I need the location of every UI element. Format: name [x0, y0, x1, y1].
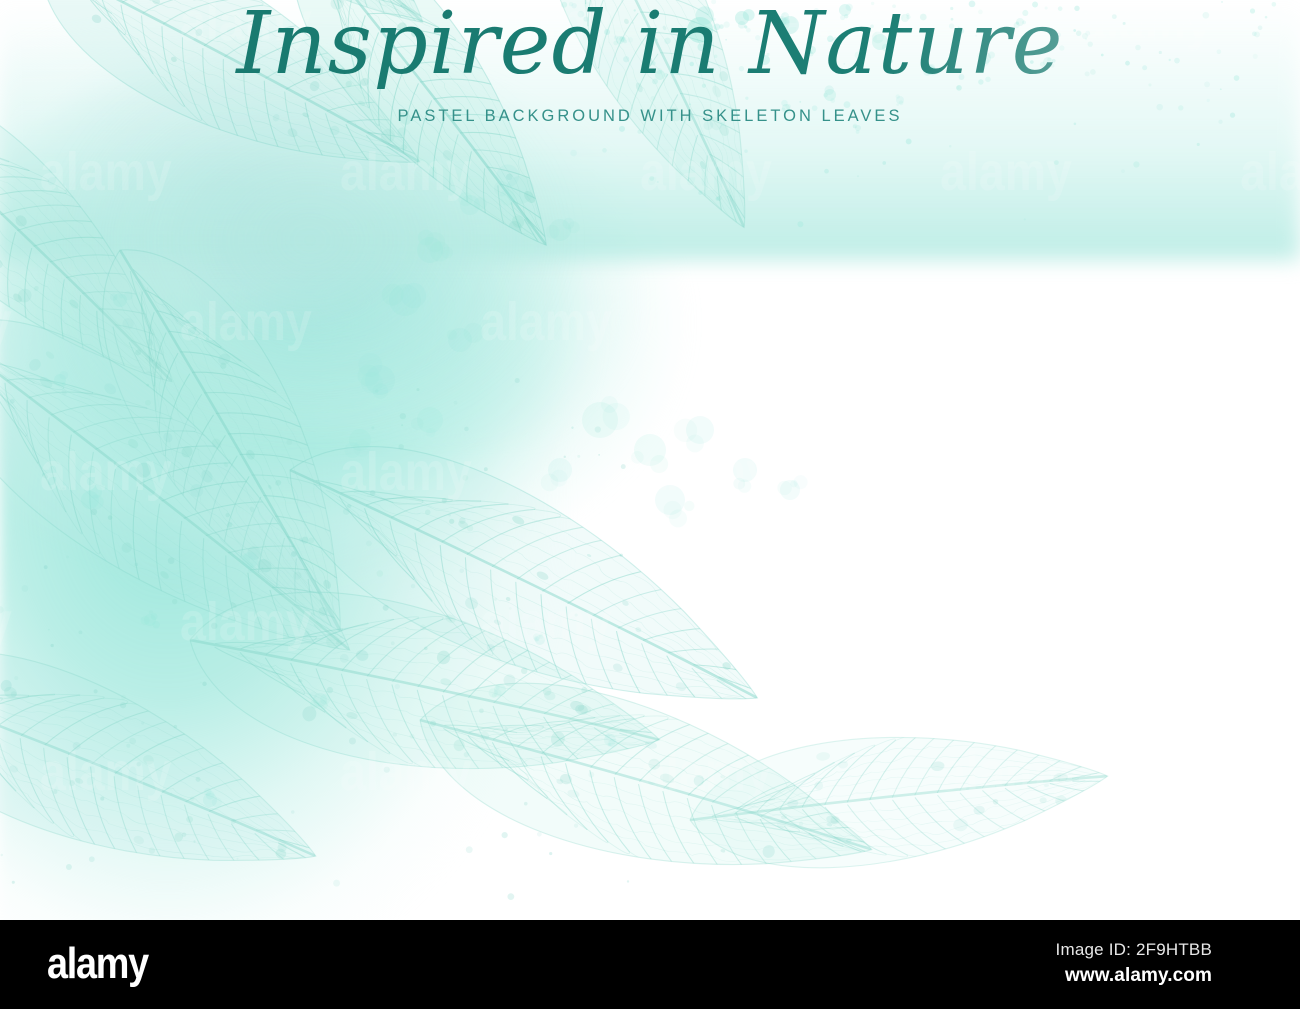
paint-speckle: [628, 37, 633, 42]
paint-speckle: [467, 525, 473, 531]
paint-speckle: [888, 29, 891, 32]
paint-speckle: [675, 41, 680, 46]
paint-speckle: [502, 832, 508, 838]
paint-splatter: [310, 692, 331, 710]
paint-speckle: [716, 197, 720, 201]
paint-speckle: [1074, 122, 1077, 125]
paint-speckle: [1133, 161, 1139, 167]
paint-speckle: [714, 54, 718, 58]
paint-speckle: [951, 18, 954, 21]
paint-speckle: [1076, 31, 1081, 36]
paint-speckle: [725, 39, 727, 41]
paint-speckle: [844, 101, 851, 108]
paint-speckle: [302, 537, 309, 544]
paint-speckle: [375, 389, 378, 392]
paint-speckle: [620, 554, 623, 557]
paint-speckle: [1221, 1, 1223, 3]
paint-speckle: [956, 85, 962, 91]
paint-splatter: [489, 684, 506, 698]
paint-speckle: [168, 557, 175, 564]
paint-speckle: [291, 551, 297, 557]
paint-speckle: [745, 97, 748, 100]
paint-speckle: [135, 563, 139, 567]
paint-splatter: [494, 164, 534, 205]
paint-speckle: [91, 509, 98, 516]
paint-speckle: [430, 720, 436, 726]
paint-speckle: [799, 101, 801, 103]
paint-speckle: [577, 11, 584, 18]
paint-speckle: [649, 176, 654, 181]
paint-speckle: [929, 35, 933, 39]
paint-speckle: [459, 568, 464, 573]
paint-speckle: [69, 780, 75, 786]
paint-splatter: [417, 230, 453, 263]
paint-speckle: [583, 16, 588, 21]
paint-speckle: [193, 840, 195, 842]
paint-speckle: [574, 824, 578, 828]
paint-speckle: [211, 623, 217, 629]
paint-speckle: [190, 796, 194, 800]
paint-speckle: [1030, 60, 1034, 64]
paint-splatter: [957, 26, 964, 35]
paint-splatter: [459, 192, 487, 215]
paint-speckle: [136, 762, 140, 766]
paint-speckle: [62, 487, 64, 489]
paint-speckle: [634, 9, 636, 11]
image-id-label: Image ID: 2F9HTBB: [1056, 938, 1212, 963]
paint-splatter: [853, 124, 861, 134]
paint-speckle: [1253, 54, 1258, 59]
paint-speckle: [1217, 49, 1222, 54]
paint-speckle: [1135, 45, 1141, 51]
paint-speckle: [985, 77, 990, 82]
paint-speckle: [575, 613, 578, 616]
paint-speckle: [171, 793, 173, 795]
paint-speckle: [466, 846, 473, 853]
paint-speckle: [343, 508, 350, 515]
paint-speckle: [442, 498, 447, 503]
paint-speckle: [812, 105, 818, 111]
paint-speckle: [892, 4, 896, 8]
paint-speckle: [420, 625, 426, 631]
paint-speckle: [1148, 83, 1151, 86]
paint-splatter: [631, 434, 668, 473]
paint-speckle: [1250, 8, 1255, 13]
paint-splatter: [54, 371, 68, 386]
paint-speckle: [94, 689, 98, 693]
paint-speckle: [371, 426, 374, 429]
paint-speckle: [623, 56, 629, 62]
paint-speckle: [11, 691, 17, 697]
paint-speckle: [384, 767, 390, 773]
paint-speckle: [824, 169, 829, 174]
paint-splatter: [141, 610, 160, 628]
paint-speckle: [1174, 58, 1180, 64]
paint-speckle: [1156, 104, 1162, 110]
paint-speckle: [182, 832, 187, 837]
paint-speckle: [721, 122, 725, 126]
paint-speckle: [739, 66, 744, 71]
paint-speckle: [401, 424, 403, 426]
pastel-leaf-artwork: alamyalamyalamyalamyalamyalamyalamyalamy…: [0, 0, 1300, 920]
paint-speckle: [744, 25, 747, 28]
paint-speckle: [366, 541, 372, 547]
paint-speckle: [509, 607, 512, 610]
paint-speckle: [291, 810, 295, 814]
paint-splatter: [733, 458, 757, 493]
paint-speckle: [44, 565, 48, 569]
paint-speckle: [1052, 59, 1056, 63]
paint-speckle: [411, 584, 415, 588]
paint-speckle: [679, 44, 685, 50]
paint-speckle: [1230, 112, 1235, 117]
paint-speckle: [507, 893, 514, 900]
paint-speckle: [108, 515, 112, 519]
paint-speckle: [657, 181, 659, 183]
paint-speckle: [564, 456, 566, 458]
paint-speckle: [651, 96, 656, 101]
paint-speckle: [1058, 6, 1063, 11]
paint-speckle: [949, 23, 954, 28]
paint-speckle: [746, 28, 751, 33]
paint-splatter: [110, 291, 133, 307]
paint-speckle: [723, 21, 729, 27]
paint-speckle: [53, 790, 57, 794]
paint-speckle: [623, 39, 627, 43]
paint-speckle: [702, 84, 706, 88]
paint-speckle: [719, 24, 724, 29]
paint-speckle: [484, 467, 488, 471]
paint-splatter: [582, 396, 630, 438]
paint-speckle: [89, 856, 95, 862]
paint-speckle: [237, 858, 239, 860]
paint-speckle: [1234, 75, 1240, 81]
paint-speckle: [1207, 99, 1210, 102]
paint-speckle: [100, 797, 104, 801]
paint-splatter: [382, 283, 427, 316]
paint-speckle: [327, 687, 333, 693]
paint-splatter: [806, 46, 816, 56]
paint-speckle: [1032, 2, 1038, 8]
paint-speckle: [308, 537, 314, 543]
paint-speckle: [174, 725, 178, 729]
paint-splatter: [345, 429, 371, 458]
paint-speckle: [570, 150, 577, 157]
paint-speckle: [262, 567, 264, 569]
paint-speckle: [1218, 120, 1222, 124]
paint-speckle: [448, 514, 451, 517]
alamy-watermark-bar: alamy Image ID: 2F9HTBB www.alamy.com: [0, 920, 1300, 1009]
paint-splatter: [923, 64, 937, 76]
paint-speckle: [711, 0, 716, 4]
paint-speckle: [1022, 10, 1028, 16]
paint-speckle: [978, 10, 983, 15]
paint-splatter: [901, 13, 911, 22]
paint-speckle: [1272, 2, 1277, 7]
paint-speckle: [410, 734, 415, 739]
paint-speckle: [870, 24, 873, 27]
paint-speckle: [664, 38, 670, 44]
paint-splatter: [896, 94, 904, 106]
paint-speckle: [598, 454, 600, 456]
paint-speckle: [906, 138, 912, 144]
paint-speckle: [1204, 82, 1210, 88]
paint-speckle: [424, 647, 428, 651]
paint-speckle: [1, 854, 3, 856]
paint-speckle: [712, 18, 715, 21]
paint-speckle: [370, 490, 376, 496]
paint-splatter: [735, 9, 755, 29]
paint-speckle: [1073, 29, 1076, 32]
paint-speckle: [959, 74, 965, 80]
paint-speckle: [1125, 61, 1130, 66]
paint-speckle: [0, 606, 4, 613]
paint-speckle: [1074, 6, 1079, 11]
paint-speckle: [1220, 88, 1222, 90]
paint-speckle: [22, 585, 29, 592]
paint-speckle: [1265, 16, 1268, 19]
paint-speckle: [377, 570, 384, 577]
paint-speckle: [521, 668, 527, 674]
paint-speckle: [66, 556, 69, 559]
paint-speckle: [126, 744, 130, 748]
paint-speckle: [632, 22, 634, 24]
paint-splatter: [977, 52, 995, 67]
paint-speckle: [698, 191, 702, 195]
paint-splatter-layer: [0, 0, 1300, 920]
paint-speckle: [1252, 31, 1257, 36]
paint-speckle: [398, 444, 404, 450]
paint-splatter: [604, 733, 617, 747]
paint-speckle: [1142, 65, 1147, 70]
paint-speckle: [1197, 143, 1200, 146]
paint-speckle: [50, 644, 53, 647]
paint-splatter: [203, 788, 222, 807]
paint-splatter: [777, 475, 807, 500]
paint-speckle: [10, 399, 15, 404]
paint-speckle: [464, 752, 469, 757]
paint-speckle: [66, 864, 72, 870]
paint-splatter: [447, 323, 484, 352]
paint-speckle: [146, 384, 149, 387]
paint-speckle: [920, 14, 927, 21]
paint-speckle: [1121, 169, 1125, 173]
paint-speckle: [656, 38, 658, 40]
paint-speckle: [855, 52, 862, 59]
paint-speckle: [561, 2, 567, 8]
paint-speckle: [621, 464, 626, 469]
paint-speckle: [425, 509, 431, 515]
paint-speckle: [978, 79, 983, 84]
paint-splatter: [533, 633, 545, 645]
paint-splatter: [1014, 18, 1026, 28]
paint-speckle: [264, 399, 266, 401]
paint-speckle: [1159, 51, 1162, 54]
paint-speckle: [619, 126, 625, 132]
artwork-canvas: alamyalamyalamyalamyalamyalamyalamyalamy…: [0, 0, 1300, 1009]
paint-speckle: [588, 772, 594, 778]
paint-speckle: [149, 847, 155, 853]
paint-splatter: [674, 416, 714, 452]
paint-speckle: [950, 7, 953, 10]
paint-speckle: [333, 880, 340, 887]
paint-splatter: [546, 218, 580, 241]
paint-splatter: [411, 407, 443, 437]
paint-speckle: [200, 682, 202, 684]
paint-speckle: [141, 722, 144, 725]
paint-speckle: [1054, 160, 1059, 165]
paint-speckle: [569, 2, 574, 7]
paint-splatter: [239, 552, 258, 573]
paint-speckle: [871, 2, 874, 5]
paint-speckle: [504, 728, 508, 732]
paint-speckle: [755, 35, 760, 40]
paint-speckle: [142, 479, 145, 482]
paint-speckle: [1059, 45, 1064, 50]
paint-speckle: [286, 439, 292, 445]
paint-speckle: [462, 475, 468, 481]
paint-speckle: [827, 36, 834, 43]
paint-speckle: [637, 130, 641, 134]
paint-speckle: [1024, 218, 1026, 220]
paint-speckle: [604, 29, 610, 35]
paint-speckle: [975, 35, 977, 37]
paint-speckle: [121, 695, 126, 700]
paint-splatter: [541, 458, 572, 491]
paint-speckle: [813, 8, 819, 14]
paint-speckle: [395, 684, 400, 689]
paint-speckle: [969, 0, 976, 7]
paint-splatter: [872, 32, 890, 52]
paint-speckle: [1090, 69, 1096, 75]
paint-speckle: [1045, 6, 1048, 9]
paint-speckle: [1178, 105, 1183, 110]
paint-speckle: [524, 802, 528, 806]
paint-speckle: [688, 115, 694, 121]
paint-speckle: [494, 598, 497, 601]
paint-speckle: [652, 78, 658, 84]
paint-splatter: [777, 12, 799, 34]
paint-splatter: [655, 68, 668, 80]
paint-speckle: [14, 676, 18, 680]
paint-splatter: [781, 100, 791, 114]
paint-speckle: [12, 881, 15, 884]
paint-speckle: [1203, 12, 1210, 19]
paint-speckle: [691, 21, 695, 25]
alamy-bar-meta: Image ID: 2F9HTBB www.alamy.com: [1056, 938, 1212, 989]
paint-speckle: [391, 641, 395, 645]
paint-speckle: [145, 400, 151, 406]
paint-speckle: [79, 630, 83, 634]
paint-speckle: [1258, 25, 1263, 30]
paint-speckle: [120, 702, 126, 708]
paint-speckle: [416, 388, 419, 391]
paint-speckle: [1056, 32, 1061, 37]
paint-speckle: [449, 519, 454, 524]
paint-speckle: [1169, 59, 1171, 61]
paint-speckle: [515, 378, 520, 383]
paint-speckle: [652, 61, 656, 65]
paint-speckle: [464, 427, 469, 432]
paint-speckle: [689, 103, 691, 105]
paint-speckle: [584, 2, 590, 8]
paint-splatter: [823, 85, 836, 102]
paint-speckle: [627, 880, 629, 882]
paint-speckle: [454, 401, 458, 405]
paint-speckle: [949, 145, 952, 148]
paint-speckle: [797, 221, 803, 227]
alamy-logo: alamy: [47, 942, 148, 986]
paint-speckle: [537, 832, 542, 837]
paint-speckle: [202, 682, 206, 686]
paint-speckle: [887, 58, 893, 64]
paint-speckle: [400, 413, 406, 419]
paint-splatter: [655, 485, 694, 527]
paint-speckle: [479, 708, 484, 713]
paint-speckle: [228, 459, 231, 462]
paint-splatter: [81, 485, 104, 510]
paint-speckle: [744, 149, 748, 153]
paint-speckle: [595, 426, 601, 432]
alamy-url: www.alamy.com: [1056, 963, 1212, 990]
paint-splatter: [759, 53, 770, 65]
paint-speckle: [1101, 54, 1104, 57]
paint-speckle: [1085, 71, 1090, 76]
paint-speckle: [336, 640, 343, 647]
paint-speckle: [48, 629, 50, 631]
paint-speckle: [690, 62, 694, 66]
paint-speckle: [602, 148, 607, 153]
paint-speckle: [882, 161, 886, 165]
paint-speckle: [705, 12, 707, 14]
paint-speckle: [225, 513, 229, 517]
paint-speckle: [549, 852, 552, 855]
paint-speckle: [349, 738, 356, 745]
paint-speckle: [1112, 14, 1117, 19]
paint-speckle: [383, 605, 389, 611]
paint-speckle: [231, 819, 236, 824]
paint-speckle: [833, 37, 838, 42]
paint-speckle: [1016, 21, 1019, 24]
paint-speckle: [840, 15, 845, 20]
paint-splatter: [1082, 31, 1090, 41]
paint-speckle: [1123, 22, 1126, 25]
paint-speckle: [305, 631, 310, 636]
paint-speckle: [843, 63, 845, 65]
paint-splatter: [687, 6, 714, 51]
paint-speckle: [577, 455, 580, 458]
paint-splatter: [1040, 57, 1055, 68]
paint-speckle: [1088, 41, 1093, 46]
paint-speckle: [571, 427, 573, 429]
paint-speckle: [857, 175, 859, 177]
paint-speckle: [172, 599, 177, 604]
